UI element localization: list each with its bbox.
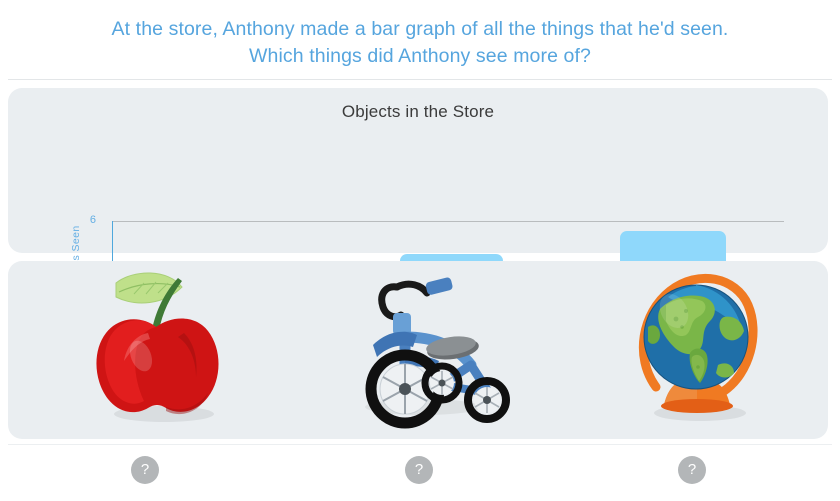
answer-button-tricycles[interactable]: ? [405,456,433,484]
image-apple [86,261,236,439]
image-globe [620,261,770,439]
question-line-2: Which things did Anthony see more of? [0,43,840,70]
globe-icon [620,261,770,439]
image-tricycle [343,261,513,439]
chart-panel: Objects in the Store Times Seen 6 0 appl… [8,88,828,253]
y-tick-max: 6 [74,214,96,226]
question-block: At the store, Anthony made a bar graph o… [0,0,840,79]
tricycle-icon [343,261,513,439]
header-divider [8,79,832,80]
plot-top-border [112,221,784,222]
apple-icon [86,261,236,439]
page-root: At the store, Anthony made a bar graph o… [0,0,840,501]
chart-title: Objects in the Store [8,102,828,122]
question-line-1: At the store, Anthony made a bar graph o… [0,16,840,43]
answers-divider [8,444,832,445]
answer-button-globes[interactable]: ? [678,456,706,484]
answer-button-apples[interactable]: ? [131,456,159,484]
images-panel [8,261,828,439]
